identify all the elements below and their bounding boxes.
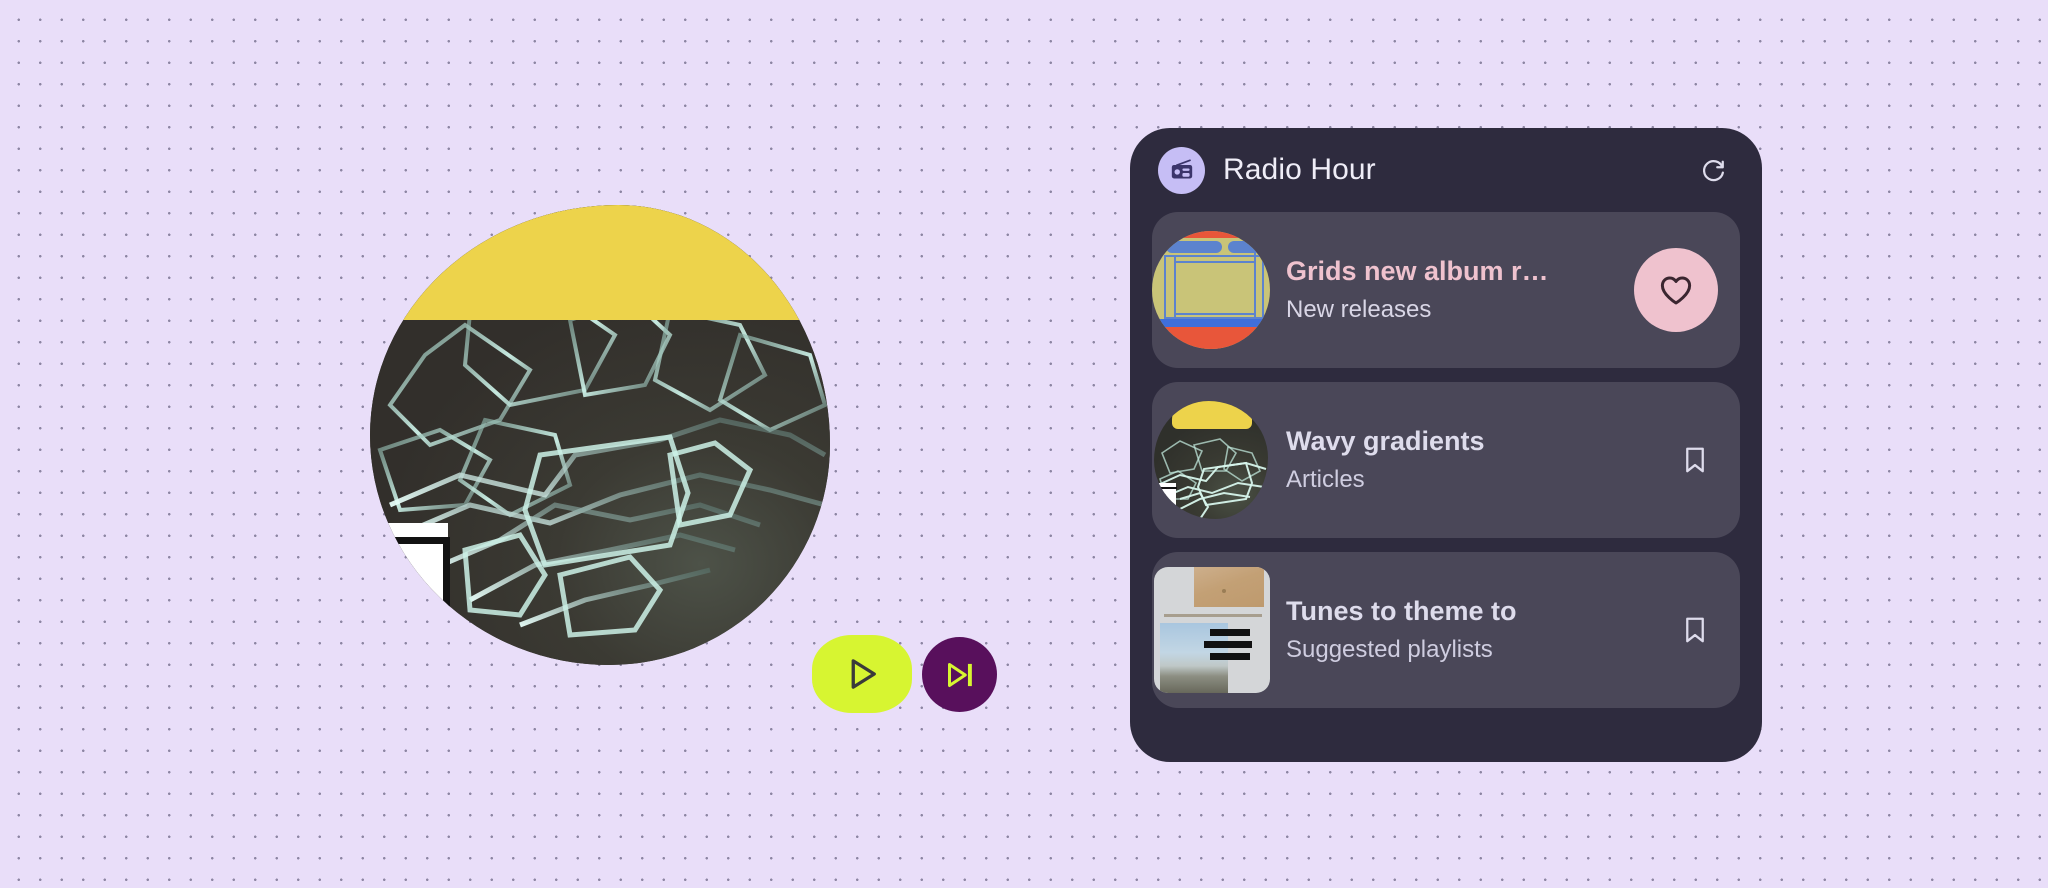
list-item-title: Grids new album r… xyxy=(1286,256,1634,288)
radio-item-list: Grids new album r… New releases xyxy=(1130,212,1762,708)
list-item-text: Wavy gradients Articles xyxy=(1272,426,1672,494)
bookmark-button[interactable] xyxy=(1672,607,1718,653)
panel-header: Radio Hour xyxy=(1130,128,1762,212)
skip-next-icon xyxy=(942,657,978,693)
list-item-title: Wavy gradients xyxy=(1286,426,1672,458)
next-button[interactable] xyxy=(922,637,997,712)
list-item-subtitle: Suggested playlists xyxy=(1286,636,1672,664)
magazine-layout-thumbnail xyxy=(1152,565,1272,695)
list-item-title: Tunes to theme to xyxy=(1286,596,1672,628)
list-item-subtitle: Articles xyxy=(1286,466,1672,494)
album-artwork xyxy=(370,205,830,665)
radio-glyph xyxy=(1169,157,1195,183)
bookmark-button[interactable] xyxy=(1672,437,1718,483)
list-item[interactable]: Tunes to theme to Suggested playlists xyxy=(1152,552,1740,708)
play-triangle-icon xyxy=(841,653,883,695)
list-item[interactable]: Grids new album r… New releases xyxy=(1152,212,1740,368)
album-art-player xyxy=(370,205,830,665)
album-artwork-white-square xyxy=(372,523,448,615)
list-item-subtitle: New releases xyxy=(1286,296,1634,324)
grid-artwork-thumbnail xyxy=(1152,225,1272,355)
list-item-text: Grids new album r… New releases xyxy=(1272,256,1634,324)
heart-icon xyxy=(1657,271,1695,309)
page-title: Radio Hour xyxy=(1223,153,1692,187)
refresh-button[interactable] xyxy=(1692,148,1736,192)
thumbnail-container xyxy=(1152,212,1272,368)
list-item-text: Tunes to theme to Suggested playlists xyxy=(1272,596,1672,664)
bookmark-icon xyxy=(1679,614,1711,646)
album-artwork-yellow-band xyxy=(370,205,830,320)
refresh-icon xyxy=(1699,155,1729,185)
radio-hour-panel: Radio Hour xyxy=(1130,128,1762,762)
play-button[interactable] xyxy=(812,635,912,713)
radio-icon xyxy=(1158,147,1205,194)
like-button[interactable] xyxy=(1634,248,1718,332)
wavy-gradient-thumbnail xyxy=(1152,395,1272,525)
thumbnail-container xyxy=(1152,382,1272,538)
list-item[interactable]: Wavy gradients Articles xyxy=(1152,382,1740,538)
bookmark-icon xyxy=(1679,444,1711,476)
thumbnail-container xyxy=(1152,552,1272,708)
